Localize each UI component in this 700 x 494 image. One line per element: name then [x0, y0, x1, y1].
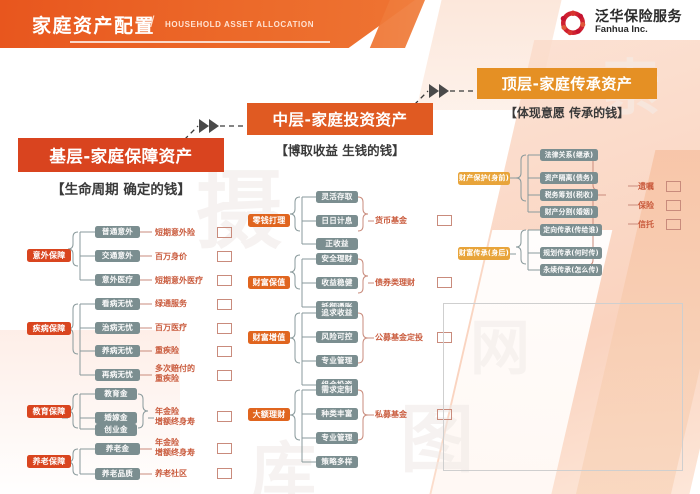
result-label: 年金险 增额终身寿: [155, 407, 213, 427]
result-label: 保险: [638, 201, 662, 211]
page-subtitle-en: HOUSEHOLD ASSET ALLOCATION: [165, 20, 314, 29]
checkbox[interactable]: [217, 227, 232, 238]
category-wealth-preservation[interactable]: 财富保值: [248, 276, 290, 289]
leaf-node[interactable]: 风险可控: [316, 331, 358, 343]
header-separator: /: [150, 14, 154, 32]
section-title-mid: 中层-家庭投资资产: [247, 103, 433, 135]
result-label: 公募基金定投: [375, 333, 437, 343]
leaf-node[interactable]: 交通意外: [95, 250, 140, 262]
logo-name-cn: 泛华保险服务: [595, 10, 682, 25]
result-label: 养老社区: [155, 469, 213, 479]
result-label: 多次赔付的 重疾险: [155, 364, 213, 384]
leaf-node[interactable]: 养老品质: [95, 468, 140, 480]
leaf-node[interactable]: 看病无忧: [95, 298, 140, 310]
category-petty-cash[interactable]: 零钱打理: [248, 214, 290, 227]
watermark-text: 库: [250, 420, 316, 494]
category-wealth-appreciation[interactable]: 财富增值: [248, 331, 290, 344]
leaf-node[interactable]: 灵活存取: [316, 191, 358, 203]
leaf-node[interactable]: 永续传承(怎么传): [540, 264, 602, 276]
section-subtitle-base: 【生命周期 确定的钱】: [18, 178, 224, 198]
leaf-node[interactable]: 税务筹划(税收): [540, 189, 598, 201]
leaf-node[interactable]: 治病无忧: [95, 322, 140, 334]
leaf-node[interactable]: 资产隔离(债务): [540, 172, 598, 184]
brand-logo: 泛华保险服务 Fanhua Inc.: [558, 8, 682, 38]
leaf-node[interactable]: 教育金: [95, 388, 137, 400]
result-label: 年金险 增额终身寿: [155, 438, 213, 458]
leaf-node[interactable]: 收益稳健: [316, 277, 358, 289]
leaf-node[interactable]: 意外医疗: [95, 274, 140, 286]
page-title: 家庭资产配置: [32, 11, 155, 38]
result-label: 债券类理财: [375, 278, 435, 288]
logo-name-en: Fanhua Inc.: [595, 25, 682, 35]
leaf-node[interactable]: 专业管理: [316, 355, 358, 367]
leaf-node[interactable]: 规划传承(何时传): [540, 247, 602, 259]
checkbox[interactable]: [217, 443, 232, 454]
checkbox[interactable]: [217, 370, 232, 381]
category-illness-protection[interactable]: 疾病保障: [27, 322, 71, 335]
slide-canvas: 摄 图 网 库 素 家庭资产配置 / HOUSEHOLD ASSET ALLOC…: [0, 0, 700, 494]
checkbox[interactable]: [666, 181, 681, 192]
leaf-node[interactable]: 定向传承(传给谁): [540, 224, 602, 236]
fanhua-gear-logo-icon: [558, 8, 588, 38]
checkbox[interactable]: [437, 215, 452, 226]
result-label: 百万身价: [155, 251, 213, 262]
leaf-node[interactable]: 财产分割(婚姻): [540, 206, 598, 218]
leaf-node[interactable]: 追求收益: [316, 307, 358, 319]
category-wealth-inheritance[interactable]: 财富传承(身后): [458, 247, 510, 260]
category-asset-protection[interactable]: 财产保护(身前): [458, 172, 510, 185]
result-label: 信托: [638, 220, 662, 230]
leaf-node[interactable]: 再病无忧: [95, 369, 140, 381]
category-large-amount-investment[interactable]: 大额理财: [248, 408, 290, 421]
leaf-node[interactable]: 专业管理: [316, 432, 358, 444]
leaf-node[interactable]: 需求定制: [316, 384, 358, 396]
result-label: 短期意外医疗: [155, 275, 213, 286]
category-education-protection[interactable]: 教育保障: [27, 405, 71, 418]
section-title-top: 顶层-家庭传承资产: [477, 68, 657, 99]
leaf-node[interactable]: 创业金: [95, 424, 137, 436]
checkbox[interactable]: [217, 323, 232, 334]
checkbox[interactable]: [666, 200, 681, 211]
leaf-node[interactable]: 日日计息: [316, 215, 358, 227]
page-header: 家庭资产配置 / HOUSEHOLD ASSET ALLOCATION 泛华保险: [0, 0, 700, 48]
result-label: 短期意外险: [155, 227, 213, 238]
checkbox[interactable]: [217, 411, 232, 422]
leaf-node[interactable]: 安全理财: [316, 253, 358, 265]
result-label: 货币基金: [375, 216, 433, 226]
leaf-node[interactable]: 法律关系(继承): [540, 149, 598, 161]
result-label: 私募基金: [375, 410, 433, 420]
checkbox[interactable]: [666, 219, 681, 230]
leaf-node[interactable]: 婚嫁金: [95, 412, 137, 424]
leaf-node[interactable]: 策略多样: [316, 456, 358, 468]
leaf-node[interactable]: 种类丰富: [316, 408, 358, 420]
leaf-node[interactable]: 养病无忧: [95, 345, 140, 357]
checkbox[interactable]: [217, 468, 232, 479]
checkbox[interactable]: [217, 251, 232, 262]
checkbox[interactable]: [437, 277, 452, 288]
checkbox[interactable]: [217, 275, 232, 286]
result-label: 百万医疗: [155, 323, 213, 333]
category-accident-protection[interactable]: 意外保障: [27, 249, 71, 262]
header-underline: [70, 41, 330, 43]
checkbox[interactable]: [217, 299, 232, 310]
result-label: 遗嘱: [638, 182, 662, 192]
result-label: 重疾险: [155, 346, 213, 356]
category-retirement-protection[interactable]: 养老保障: [27, 455, 71, 468]
checkbox[interactable]: [217, 346, 232, 357]
leaf-node[interactable]: 正收益: [316, 238, 358, 250]
section-subtitle-top: 【体现意愿 传承的钱】: [477, 104, 657, 121]
section-subtitle-mid: 【博取收益 生钱的钱】: [247, 140, 433, 159]
leaf-node[interactable]: 养老金: [95, 443, 140, 455]
notes-placeholder-box[interactable]: [443, 303, 683, 471]
section-title-base: 基层-家庭保障资产: [18, 138, 224, 172]
result-label: 绿通服务: [155, 299, 213, 309]
leaf-node[interactable]: 普通意外: [95, 226, 140, 238]
